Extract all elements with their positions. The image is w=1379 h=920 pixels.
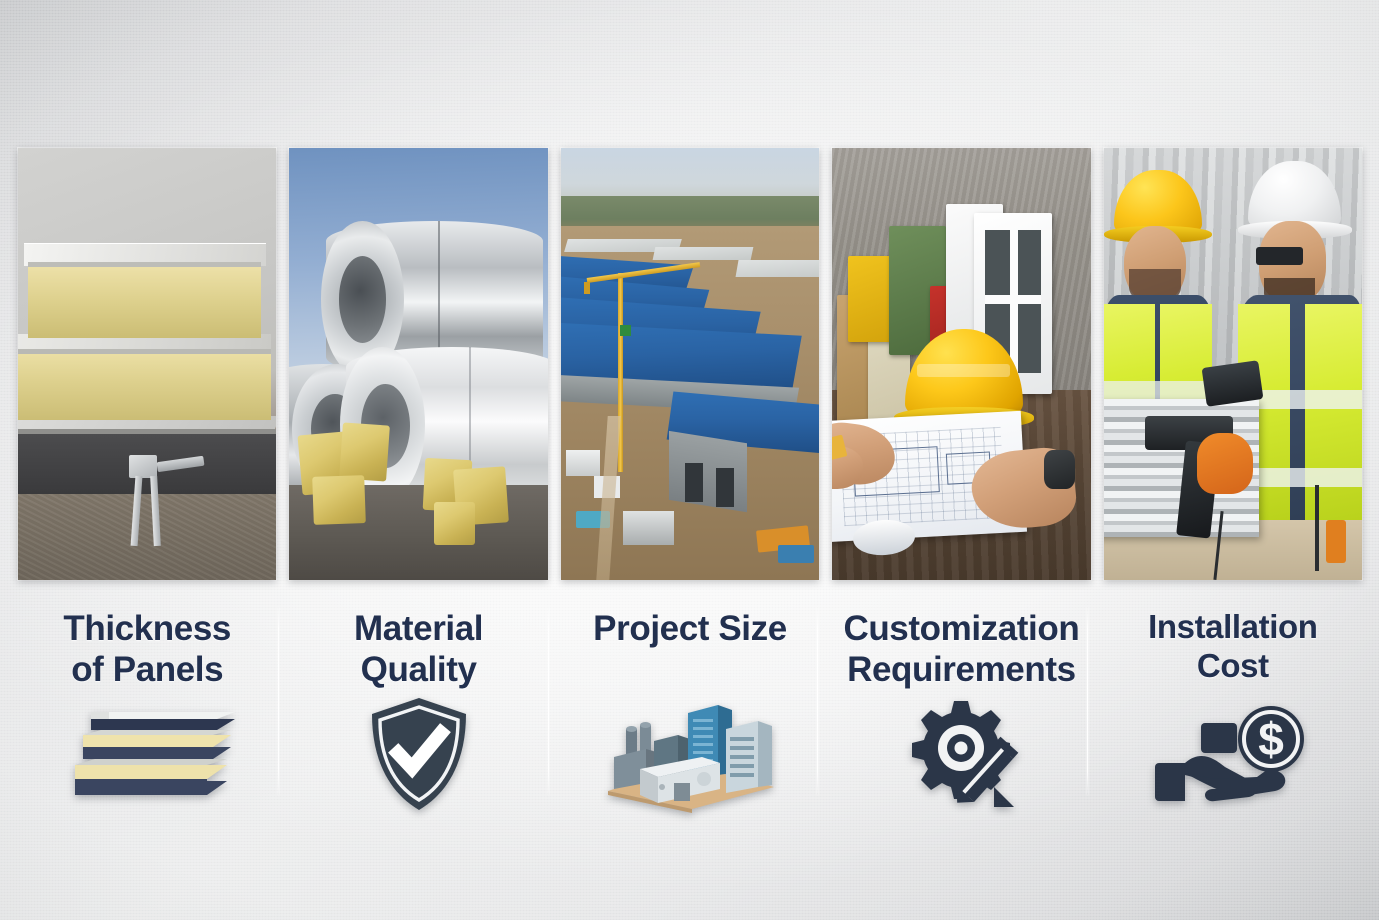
infographic-canvas: Thickness of Panels	[0, 0, 1379, 920]
factor-label-project-size: Project Size	[561, 608, 819, 649]
factor-column-customization-requirements[interactable]: Customization Requirements	[832, 148, 1090, 819]
hand-holding-dollar-icon: $	[1104, 691, 1362, 819]
aerial-construction-site-photo	[561, 148, 819, 580]
industrial-buildings-icon	[561, 691, 819, 819]
column-divider-1	[278, 607, 279, 795]
factor-label-material-quality: Material Quality	[289, 608, 547, 691]
sandwich-panel-stack-with-caliper-photo	[18, 148, 276, 580]
factor-column-project-size[interactable]: Project Size	[561, 148, 819, 819]
factor-column-installation-cost[interactable]: Installation Cost $	[1104, 148, 1362, 819]
column-divider-2	[548, 607, 549, 795]
factor-label-thickness-of-panels: Thickness of Panels	[18, 608, 276, 691]
column-divider-4	[1087, 607, 1088, 795]
blueprint-hardhat-samples-photo	[832, 148, 1090, 580]
column-divider-3	[817, 607, 818, 795]
factor-column-material-quality[interactable]: Material Quality	[289, 148, 547, 819]
stacked-sandwich-panels-icon	[18, 691, 276, 819]
svg-text:$: $	[1258, 713, 1284, 765]
factor-columns: Thickness of Panels	[18, 148, 1362, 808]
gear-pencil-icon	[832, 691, 1090, 819]
shield-check-icon	[289, 691, 547, 819]
workers-installing-metal-panel-photo	[1104, 148, 1362, 580]
factor-column-thickness-of-panels[interactable]: Thickness of Panels	[18, 148, 276, 819]
steel-coils-and-rockwool-photo	[289, 148, 547, 580]
factor-label-customization-requirements: Customization Requirements	[832, 608, 1090, 691]
factor-label-installation-cost: Installation Cost	[1104, 608, 1362, 686]
